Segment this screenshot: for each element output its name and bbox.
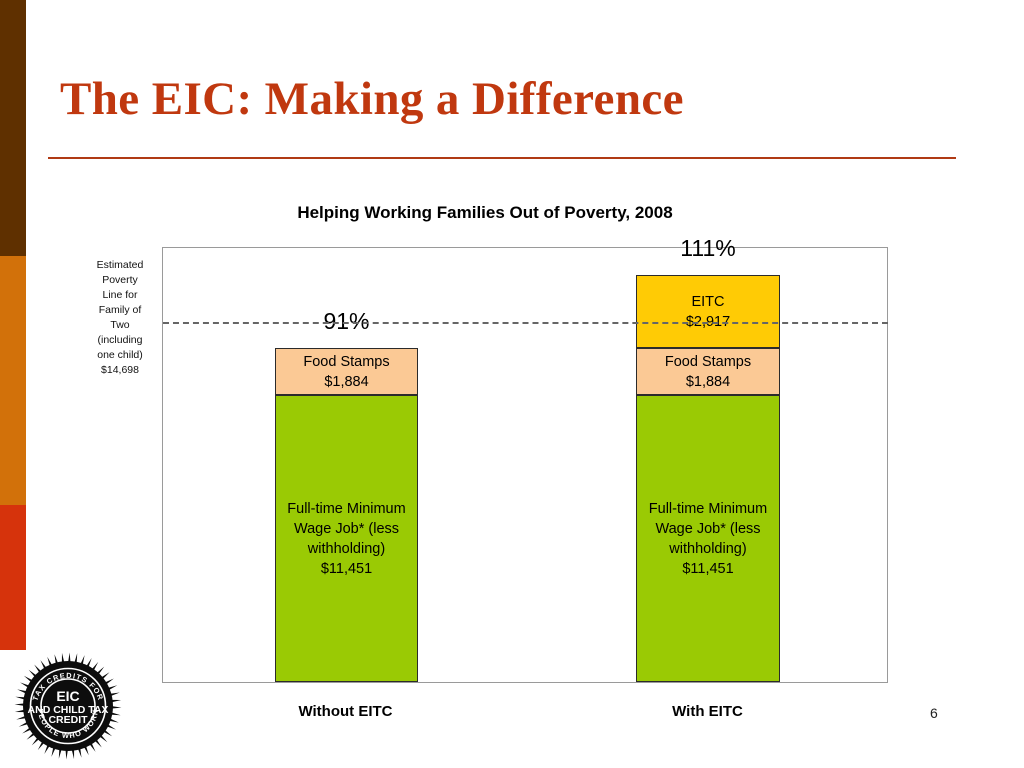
poverty-note-line-1: Estimated	[82, 258, 158, 273]
segment-label: Food Stamps	[665, 352, 751, 372]
segment-label: Full-time Minimum Wage Job* (less withho…	[639, 499, 777, 559]
chart-plot-area: 91% Food Stamps $1,884 Full-time Minimum…	[162, 247, 888, 683]
bar-segment-eitc-with-eitc[interactable]: EITC $2,917	[636, 275, 780, 348]
title-divider	[48, 157, 956, 159]
sidebar-band-red	[0, 505, 26, 650]
total-percent-label-with-eitc: 111%	[636, 235, 780, 262]
segment-value: $1,884	[324, 372, 368, 392]
poverty-note-line-3: Line for	[82, 288, 158, 303]
bar-segment-food-stamps-with-eitc[interactable]: Food Stamps $1,884	[636, 348, 780, 395]
poverty-note-line-6: (including	[82, 333, 158, 348]
page-number: 6	[930, 705, 938, 721]
slide-title: The EIC: Making a Difference	[60, 72, 960, 126]
segment-value: $1,884	[686, 372, 730, 392]
poverty-note-line-7: one child)	[82, 348, 158, 363]
sidebar-band-orange	[0, 256, 26, 505]
segment-value: $11,451	[321, 559, 372, 579]
bar-segment-food-stamps-without-eitc[interactable]: Food Stamps $1,884	[275, 348, 418, 395]
seal-line3: CREDIT	[48, 714, 88, 726]
poverty-reference-line	[163, 322, 888, 324]
bar-stack-with-eitc[interactable]: 111% EITC $2,917 Food Stamps $1,884 Full…	[636, 275, 780, 682]
segment-label: Food Stamps	[303, 352, 389, 372]
poverty-note-value: $14,698	[82, 363, 158, 378]
bar-stack-without-eitc[interactable]: 91% Food Stamps $1,884 Full-time Minimum…	[275, 348, 418, 682]
bar-segment-wage-with-eitc[interactable]: Full-time Minimum Wage Job* (less withho…	[636, 395, 780, 682]
eic-seal-logo: TAX CREDITS FOR PEOPLE WHO WORK EIC AND …	[14, 652, 122, 760]
poverty-note-line-2: Poverty	[82, 273, 158, 288]
seal-line1: EIC	[56, 688, 79, 704]
category-label-with-eitc: With EITC	[620, 703, 795, 720]
poverty-note-line-4: Family of	[82, 303, 158, 318]
segment-label: EITC	[691, 292, 724, 312]
poverty-line-annotation: Estimated Poverty Line for Family of Two…	[82, 258, 158, 378]
poverty-note-line-5: Two	[82, 318, 158, 333]
segment-value: $11,451	[682, 559, 733, 579]
segment-label: Full-time Minimum Wage Job* (less withho…	[278, 499, 415, 559]
bar-segment-wage-without-eitc[interactable]: Full-time Minimum Wage Job* (less withho…	[275, 395, 418, 682]
chart-title: Helping Working Families Out of Poverty,…	[0, 203, 970, 223]
category-label-without-eitc: Without EITC	[258, 703, 433, 720]
